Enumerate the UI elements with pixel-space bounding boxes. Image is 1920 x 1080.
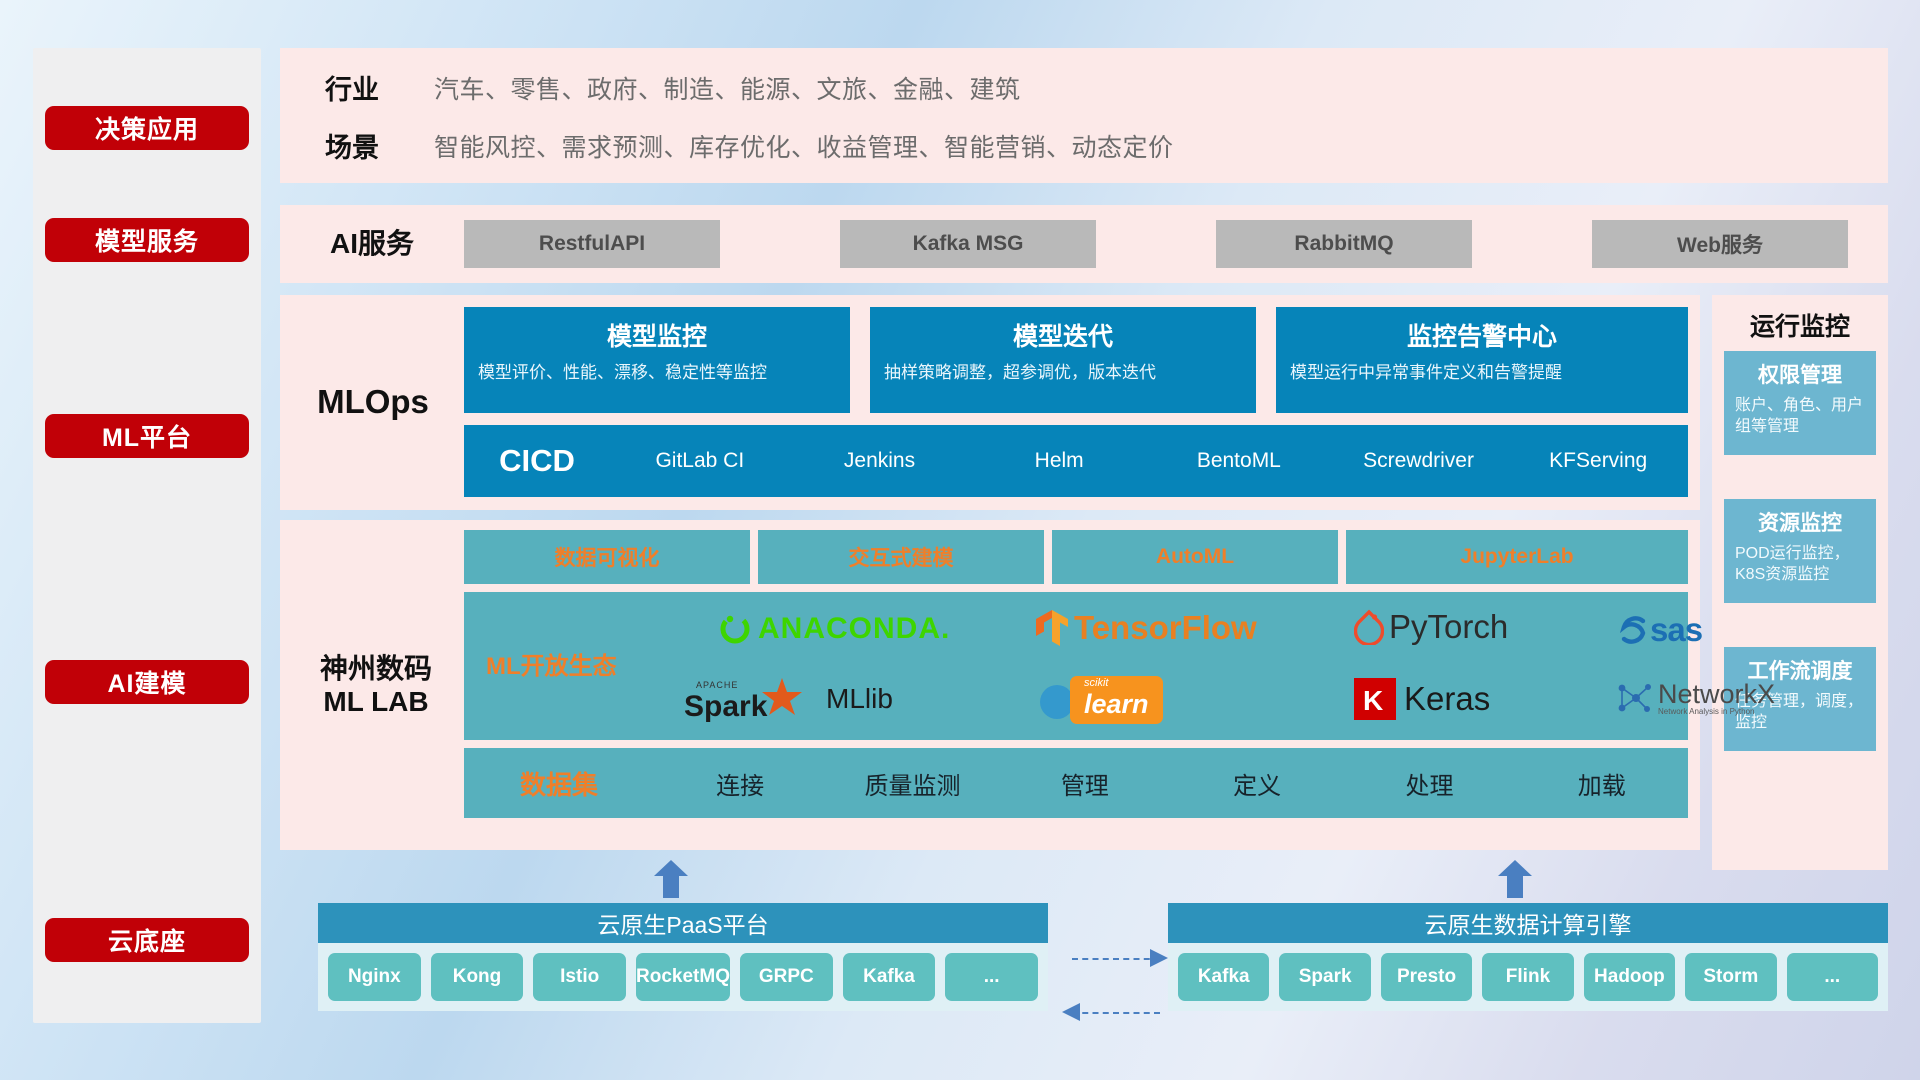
scenario-row: 场景 智能风控、需求预测、库存优化、收益管理、智能营销、动态定价 (292, 126, 1872, 165)
anaconda-logo: ANACONDA. (718, 612, 950, 646)
scikit-learn-badge: scikit learn (1070, 676, 1163, 724)
anaconda-wordmark: ANACONDA. (758, 612, 950, 646)
svg-text:APACHE: APACHE (696, 680, 738, 690)
card-desc: 模型运行中异常事件定义和告警提醒 (1290, 362, 1674, 384)
spark-icon: APACHE Spark (674, 672, 824, 726)
cicd-item-screwdriver[interactable]: Screwdriver (1329, 450, 1509, 472)
dataset-item-load[interactable]: 加载 (1516, 766, 1688, 801)
keras-wordmark: Keras (1404, 680, 1490, 718)
service-chip-restfulapi[interactable]: RestfulAPI (464, 220, 720, 268)
industry-values: 汽车、零售、政府、制造、能源、文旅、金融、建筑 (434, 70, 1021, 106)
pytorch-icon (1354, 609, 1384, 645)
ml-lab-label-line2: ML LAB (323, 685, 428, 718)
card-desc: 抽样策略调整，超参调优，版本迭代 (884, 362, 1242, 384)
pytorch-logo: PyTorch (1354, 608, 1508, 646)
networkx-logo: NetworkX Network Analysis in Python (1614, 678, 1775, 718)
engine-chip-more[interactable]: ... (1787, 953, 1878, 1001)
lab-tool-data-visualization[interactable]: 数据可视化 (464, 530, 750, 584)
monitoring-card-permission[interactable]: 权限管理 账户、角色、用户组等管理 (1724, 351, 1876, 455)
mlops-card-alert-center[interactable]: 监控告警中心 模型运行中异常事件定义和告警提醒 (1276, 307, 1688, 413)
cloud-engine-block: 云原生数据计算引擎 Kafka Spark Presto Flink Hadoo… (1168, 903, 1888, 1011)
sidebar-item-ai-modeling[interactable]: AI建模 (45, 660, 249, 704)
engine-title: 云原生数据计算引擎 (1168, 903, 1888, 943)
scenario-values: 智能风控、需求预测、库存优化、收益管理、智能营销、动态定价 (434, 128, 1174, 164)
sas-icon (1616, 613, 1650, 647)
tensorflow-icon (1034, 608, 1070, 648)
card-title: 监控告警中心 (1276, 317, 1688, 353)
dataset-item-quality[interactable]: 质量监测 (826, 766, 998, 801)
sas-logo: sas (1616, 611, 1702, 649)
ml-open-ecosystem-label: ML开放生态 (486, 646, 656, 681)
monitoring-panel: 运行监控 权限管理 账户、角色、用户组等管理 资源监控 POD运行监控，K8S资… (1712, 295, 1888, 870)
monitoring-title: 运行监控 (1712, 307, 1888, 343)
paas-chip-rocketmq[interactable]: RocketMQ (636, 953, 730, 1001)
scikit-label: scikit (1084, 678, 1149, 689)
paas-chip-grpc[interactable]: GRPC (740, 953, 833, 1001)
ml-lab-label: 神州数码 ML LAB (288, 520, 464, 850)
mlops-label: MLOps (288, 295, 458, 510)
engine-chip-storm[interactable]: Storm (1685, 953, 1776, 1001)
dataset-item-define[interactable]: 定义 (1171, 766, 1343, 801)
sidebar-item-decision-app[interactable]: 决策应用 (45, 106, 249, 150)
mlops-card-model-iteration[interactable]: 模型迭代 抽样策略调整，超参调优，版本迭代 (870, 307, 1256, 413)
ml-lab-band: 神州数码 ML LAB 数据可视化 交互式建模 AutoML JupyterLa… (280, 520, 1700, 850)
cloud-paas-block: 云原生PaaS平台 Nginx Kong Istio RocketMQ GRPC… (318, 903, 1048, 1011)
card-title: 模型监控 (464, 317, 850, 353)
service-chip-web-service[interactable]: Web服务 (1592, 220, 1848, 268)
dashed-line-left (1072, 1012, 1160, 1014)
cicd-item-gitlab-ci[interactable]: GitLab CI (610, 450, 790, 472)
ai-service-band: AI服务 RestfulAPI Kafka MSG RabbitMQ Web服务 (280, 205, 1888, 283)
networkx-wordmark-block: NetworkX Network Analysis in Python (1658, 681, 1775, 716)
mllib-wordmark: MLlib (826, 683, 893, 715)
paas-chip-more[interactable]: ... (945, 953, 1038, 1001)
ml-lab-label-line1: 神州数码 (320, 652, 432, 685)
learn-wordmark: learn (1084, 689, 1149, 719)
card-desc: POD运行监控，K8S资源监控 (1735, 543, 1865, 585)
paas-chip-istio[interactable]: Istio (533, 953, 626, 1001)
paas-title: 云原生PaaS平台 (318, 903, 1048, 943)
networkx-tagline: Network Analysis in Python (1658, 708, 1775, 716)
spark-mllib-logo: APACHE Spark MLlib (674, 672, 893, 726)
industry-label: 行业 (292, 68, 412, 107)
card-desc: 账户、角色、用户组等管理 (1735, 395, 1865, 437)
monitoring-card-resource[interactable]: 资源监控 POD运行监控，K8S资源监控 (1724, 499, 1876, 603)
mlops-card-model-monitoring[interactable]: 模型监控 模型评价、性能、漂移、稳定性等监控 (464, 307, 850, 413)
service-chip-kafka-msg[interactable]: Kafka MSG (840, 220, 1096, 268)
tensorflow-logo: TensorFlow (1034, 608, 1257, 648)
dataset-item-manage[interactable]: 管理 (999, 766, 1171, 801)
card-desc: 模型评价、性能、漂移、稳定性等监控 (478, 362, 836, 384)
sidebar-item-ml-platform[interactable]: ML平台 (45, 414, 249, 458)
cicd-title: CICD (464, 443, 610, 479)
networkx-wordmark: NetworkX (1658, 681, 1775, 708)
anaconda-icon (718, 612, 752, 646)
dashed-arrow-right-icon (1150, 949, 1168, 967)
paas-items: Nginx Kong Istio RocketMQ GRPC Kafka ... (318, 943, 1048, 1011)
cicd-item-jenkins[interactable]: Jenkins (790, 450, 970, 472)
tensorflow-wordmark: TensorFlow (1074, 609, 1257, 647)
card-title: 模型迭代 (870, 317, 1256, 353)
cicd-item-bentoml[interactable]: BentoML (1149, 450, 1329, 472)
industry-row: 行业 汽车、零售、政府、制造、能源、文旅、金融、建筑 (292, 68, 1872, 107)
card-title: 权限管理 (1724, 359, 1876, 389)
paas-chip-nginx[interactable]: Nginx (328, 953, 421, 1001)
paas-chip-kafka[interactable]: Kafka (843, 953, 936, 1001)
cicd-item-kfserving[interactable]: KFServing (1508, 450, 1688, 472)
ml-open-ecosystem-box: ML开放生态 ANACONDA. TensorFlow (464, 592, 1688, 740)
mlops-band: MLOps 模型监控 模型评价、性能、漂移、稳定性等监控 模型迭代 抽样策略调整… (280, 295, 1700, 510)
pytorch-wordmark: PyTorch (1389, 608, 1508, 646)
cicd-bar: CICD GitLab CI Jenkins Helm BentoML Scre… (464, 425, 1688, 497)
engine-items: Kafka Spark Presto Flink Hadoop Storm ..… (1168, 943, 1888, 1011)
paas-chip-kong[interactable]: Kong (431, 953, 524, 1001)
cicd-item-helm[interactable]: Helm (969, 450, 1149, 472)
engine-chip-kafka[interactable]: Kafka (1178, 953, 1269, 1001)
keras-logo: K Keras (1354, 678, 1490, 720)
scikit-learn-logo: scikit learn (1034, 676, 1163, 724)
dataset-title: 数据集 (464, 765, 654, 802)
dataset-item-process[interactable]: 处理 (1343, 766, 1515, 801)
card-title: 资源监控 (1724, 507, 1876, 537)
sidebar-item-cloud-base[interactable]: 云底座 (45, 918, 249, 962)
ecosystem-logos: ANACONDA. TensorFlow PyTorch (654, 596, 1682, 736)
arrow-up-paas (654, 860, 688, 898)
applications-band: 行业 汽车、零售、政府、制造、能源、文旅、金融、建筑 场景 智能风控、需求预测、… (280, 48, 1888, 183)
sidebar-item-model-service[interactable]: 模型服务 (45, 218, 249, 262)
lab-tool-jupyterlab[interactable]: JupyterLab (1346, 530, 1688, 584)
dataset-item-connect[interactable]: 连接 (654, 766, 826, 801)
keras-icon: K (1354, 678, 1396, 720)
sas-wordmark: sas (1650, 611, 1702, 649)
arrow-up-engine (1498, 860, 1532, 898)
scenario-label: 场景 (292, 126, 412, 165)
lab-tool-interactive-modeling[interactable]: 交互式建模 (758, 530, 1044, 584)
architecture-diagram: 决策应用 模型服务 ML平台 AI建模 云底座 行业 汽车、零售、政府、制造、能… (0, 0, 1920, 1080)
dataset-bar: 数据集 连接 质量监测 管理 定义 处理 加载 (464, 748, 1688, 818)
svg-text:K: K (1363, 685, 1383, 716)
networkx-icon (1614, 678, 1654, 718)
engine-chip-spark[interactable]: Spark (1279, 953, 1370, 1001)
engine-chip-presto[interactable]: Presto (1381, 953, 1472, 1001)
layer-sidebar: 决策应用 模型服务 ML平台 AI建模 云底座 (33, 48, 261, 1023)
engine-chip-flink[interactable]: Flink (1482, 953, 1573, 1001)
lab-tool-automl[interactable]: AutoML (1052, 530, 1338, 584)
engine-chip-hadoop[interactable]: Hadoop (1584, 953, 1675, 1001)
service-chip-rabbitmq[interactable]: RabbitMQ (1216, 220, 1472, 268)
dashed-line-right (1072, 958, 1160, 960)
ai-service-label: AI服务 (292, 205, 452, 283)
dashed-arrow-left-icon (1062, 1003, 1080, 1021)
svg-text:Spark: Spark (684, 690, 768, 723)
